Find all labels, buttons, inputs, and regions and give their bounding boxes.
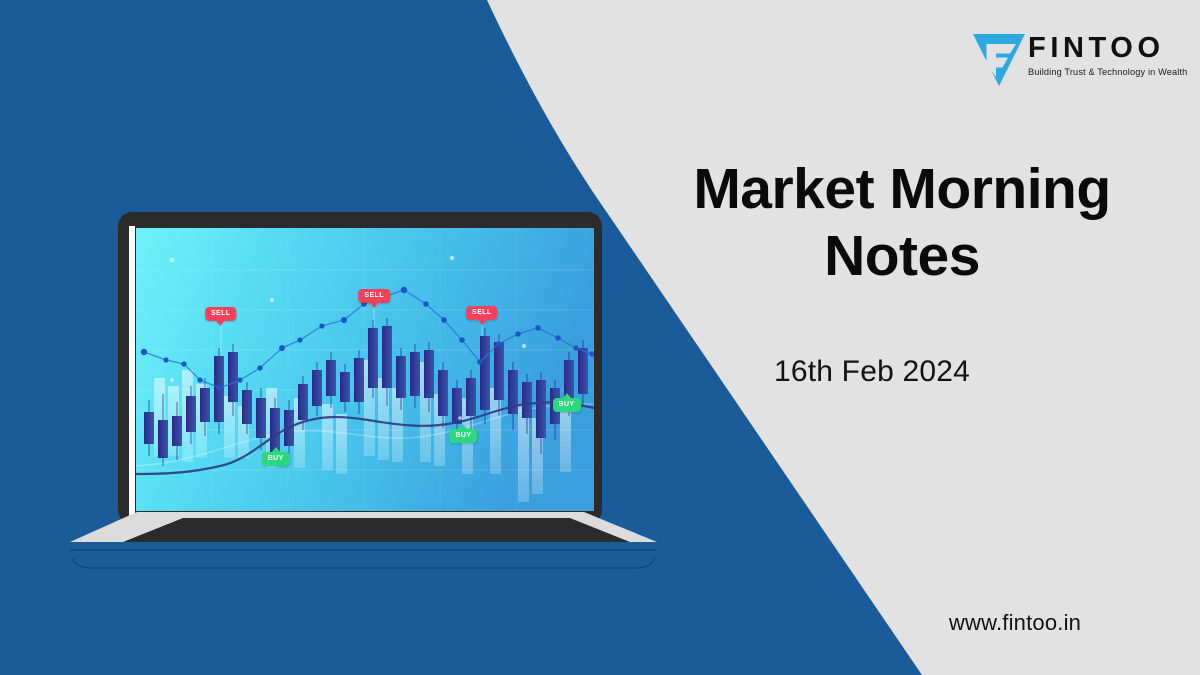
website-url[interactable]: www.fintoo.in bbox=[860, 610, 1170, 636]
page-title-line-2: Notes bbox=[652, 223, 1152, 290]
sell-marker-3[interactable]: SELL bbox=[466, 306, 498, 320]
buy-marker-3[interactable]: BUY bbox=[553, 398, 581, 412]
laptop-keyboard-area bbox=[123, 518, 630, 542]
marketing-banner: SELL SELL SELL BUY BUY BUY FINTOO Buildi… bbox=[0, 0, 1200, 675]
publication-date: 16th Feb 2024 bbox=[652, 355, 1092, 389]
laptop-base-front bbox=[70, 542, 657, 568]
fintoo-tagline: Building Trust & Technology in Wealth bbox=[1028, 67, 1168, 77]
sell-marker-2[interactable]: SELL bbox=[358, 289, 390, 303]
laptop-bezel-highlight bbox=[129, 226, 135, 516]
fintoo-triangle-f-logo-icon bbox=[972, 30, 1026, 90]
page-title-line-1: Market Morning bbox=[693, 157, 1110, 221]
fintoo-logo[interactable]: FINTOO Building Trust & Technology in We… bbox=[972, 28, 1168, 94]
buy-marker-2[interactable]: BUY bbox=[449, 429, 477, 443]
laptop-screen: SELL SELL SELL BUY BUY BUY bbox=[136, 228, 594, 511]
fintoo-wordmark: FINTOO bbox=[1028, 34, 1168, 63]
laptop-illustration: SELL SELL SELL BUY BUY BUY bbox=[65, 212, 665, 582]
trading-chart bbox=[136, 228, 594, 511]
fintoo-wordmark-block: FINTOO Building Trust & Technology in We… bbox=[1028, 34, 1168, 77]
page-title: Market Morning Notes bbox=[652, 156, 1152, 291]
buy-marker-1[interactable]: BUY bbox=[262, 452, 290, 466]
sell-marker-1[interactable]: SELL bbox=[205, 307, 237, 321]
